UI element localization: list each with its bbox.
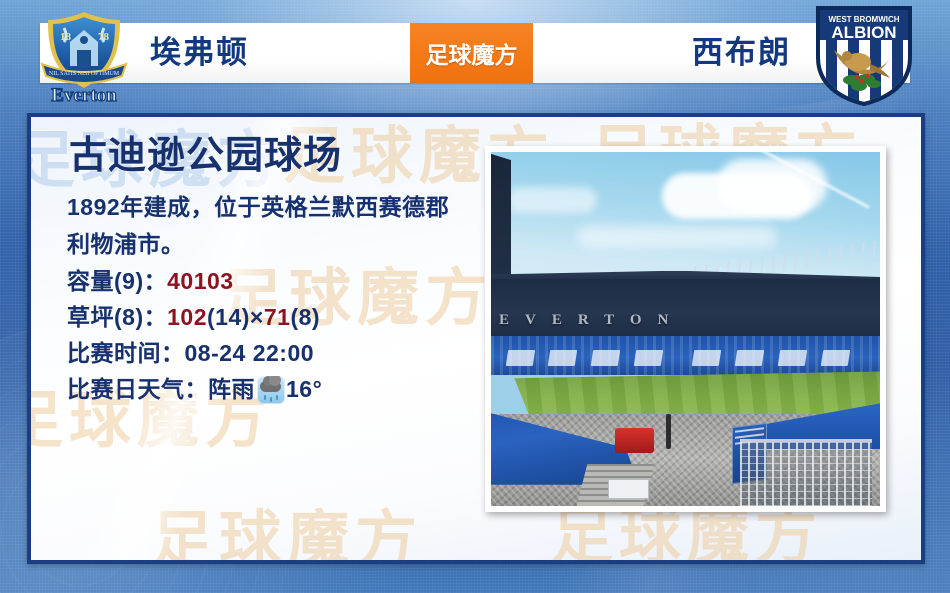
stadium-photo-frame[interactable]: EVERTON bbox=[485, 146, 886, 512]
capacity-row: 容量(9)：40103 bbox=[67, 263, 487, 299]
match-time-value: 08-24 22:00 bbox=[185, 340, 315, 366]
svg-text:ALBION: ALBION bbox=[831, 23, 896, 42]
pitch-length-value: 102 bbox=[167, 304, 207, 330]
pitch-size-row: 草坪(8)：102(14)×71(8) bbox=[67, 299, 487, 335]
photo-fence bbox=[740, 439, 872, 506]
photo-post bbox=[666, 414, 671, 449]
svg-text:78: 78 bbox=[98, 31, 110, 43]
svg-text:Everton: Everton bbox=[51, 85, 117, 106]
photo-cloud bbox=[507, 187, 597, 213]
pitch-width-value: 71 bbox=[264, 304, 291, 330]
pitch-length-rating: (14) bbox=[207, 304, 250, 330]
photo-cloud bbox=[717, 159, 827, 211]
svg-text:NIL SATIS NISI OPTIMUM: NIL SATIS NISI OPTIMUM bbox=[49, 71, 120, 77]
match-header: 18 78 NIL SATIS NISI OPTIMUM Everton 埃弗顿… bbox=[0, 0, 950, 110]
match-time-label: 比赛时间： bbox=[67, 340, 185, 366]
match-weather-value: 阵雨 bbox=[208, 376, 255, 402]
photo-stand-lettering: EVERTON bbox=[491, 304, 880, 336]
pitch-size-label: 草坪(8)： bbox=[67, 304, 167, 330]
away-team-name: 西布朗 bbox=[692, 24, 791, 82]
match-temperature: 16° bbox=[286, 376, 322, 402]
match-time-row: 比赛时间：08-24 22:00 bbox=[67, 335, 487, 371]
stadium-info-panel: 足球魔方 足球魔方 足球魔方 足球魔方 足球魔方 足球魔方 足球魔方 古迪逊公园… bbox=[27, 113, 925, 564]
watermark-text: 足球魔方 bbox=[151, 489, 423, 564]
photo-cloud bbox=[577, 226, 777, 248]
match-weather-label: 比赛日天气： bbox=[67, 376, 208, 402]
photo-notice-board bbox=[608, 479, 649, 499]
everton-crest-icon: 18 78 NIL SATIS NISI OPTIMUM Everton bbox=[30, 6, 138, 106]
stadium-title: 古迪逊公园球场 bbox=[69, 137, 487, 175]
stadium-description: 1892年建成，位于英格兰默西赛德郡利物浦市。 bbox=[67, 189, 465, 263]
home-team-name: 埃弗顿 bbox=[150, 24, 249, 82]
stadium-info-block: 古迪逊公园球场 1892年建成，位于英格兰默西赛德郡利物浦市。 容量(9)：40… bbox=[67, 137, 487, 407]
pitch-width-rating: (8) bbox=[290, 304, 320, 330]
capacity-value: 40103 bbox=[167, 268, 233, 294]
capacity-label: 容量(9)： bbox=[67, 268, 167, 294]
west-bromwich-albion-crest-icon: WEST BROMWICH ALBION bbox=[812, 6, 916, 106]
pitch-size-times: × bbox=[250, 304, 264, 330]
brand-logo[interactable]: 足球魔方 bbox=[410, 23, 533, 83]
photo-left-roof bbox=[491, 152, 511, 287]
photo-red-equipment bbox=[615, 428, 654, 453]
match-weather-row: 比赛日天气：阵雨16° bbox=[67, 371, 487, 407]
match-stadium-card: 18 78 NIL SATIS NISI OPTIMUM Everton 埃弗顿… bbox=[0, 0, 950, 593]
shower-rain-icon bbox=[257, 376, 285, 404]
svg-text:18: 18 bbox=[60, 31, 72, 43]
brand-logo-text: 足球魔方 bbox=[426, 36, 518, 70]
goodison-park-photo: EVERTON bbox=[491, 152, 880, 506]
